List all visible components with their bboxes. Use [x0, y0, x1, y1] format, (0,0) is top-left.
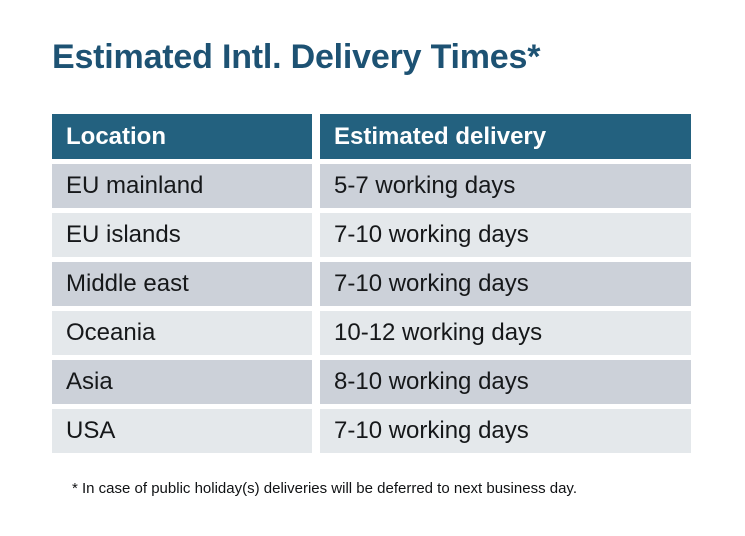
delivery-times-table: Location Estimated delivery EU mainland … — [52, 114, 691, 453]
column-header-estimated-delivery: Estimated delivery — [320, 114, 691, 159]
cell-location: Oceania — [52, 311, 312, 355]
cell-location: USA — [52, 409, 312, 453]
table-row: USA 7-10 working days — [52, 409, 691, 453]
page-title: Estimated Intl. Delivery Times* — [52, 36, 540, 78]
cell-delivery: 5-7 working days — [320, 164, 691, 208]
cell-delivery: 10-12 working days — [320, 311, 691, 355]
cell-delivery: 7-10 working days — [320, 262, 691, 306]
footnote-text: * In case of public holiday(s) deliverie… — [72, 479, 577, 499]
column-header-location: Location — [52, 114, 312, 159]
table-row: EU islands 7-10 working days — [52, 213, 691, 257]
table-row: Asia 8-10 working days — [52, 360, 691, 404]
cell-location: EU islands — [52, 213, 312, 257]
cell-delivery: 7-10 working days — [320, 409, 691, 453]
table-header-row: Location Estimated delivery — [52, 114, 691, 159]
cell-location: Asia — [52, 360, 312, 404]
table-row: Middle east 7-10 working days — [52, 262, 691, 306]
cell-delivery: 7-10 working days — [320, 213, 691, 257]
cell-location: Middle east — [52, 262, 312, 306]
table-row: Oceania 10-12 working days — [52, 311, 691, 355]
cell-location: EU mainland — [52, 164, 312, 208]
cell-delivery: 8-10 working days — [320, 360, 691, 404]
table-row: EU mainland 5-7 working days — [52, 164, 691, 208]
delivery-times-infographic: Estimated Intl. Delivery Times* Location… — [0, 0, 745, 536]
